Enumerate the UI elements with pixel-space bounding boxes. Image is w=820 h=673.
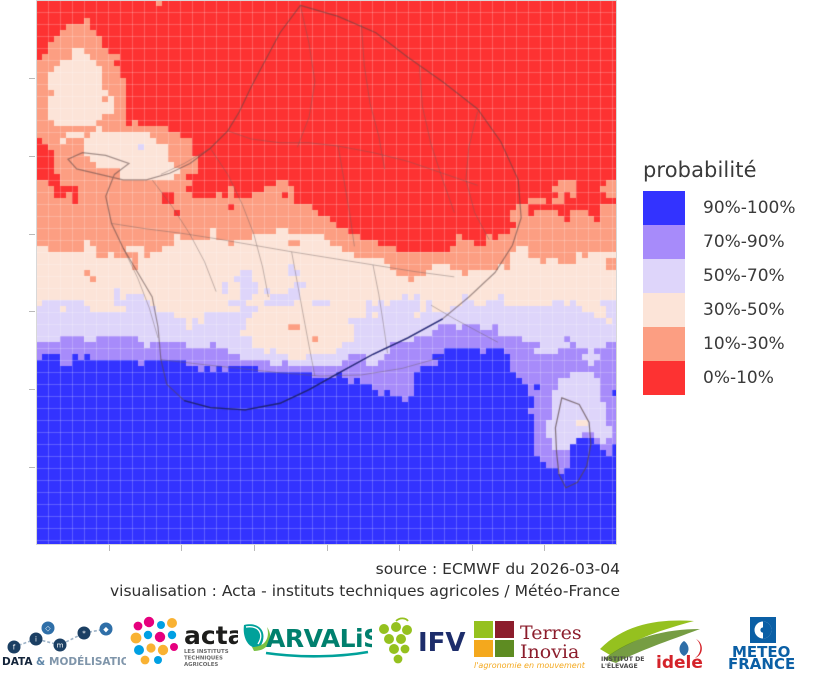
probability-map: [36, 0, 617, 545]
x-axis-tick: [544, 545, 545, 551]
credit-visualisation: visualisation : Acta - instituts techniq…: [0, 580, 620, 602]
legend-entries: 90%-100%70%-90%50%-70%30%-50%10%-30%0%-1…: [643, 191, 813, 395]
logo-idele: INSTITUT DE L'ÉLEVAGE idele: [598, 614, 726, 672]
partner-logo-bar: fi m* ◇◆ DATA & MODÉLISATION: [0, 612, 820, 673]
legend-label: 70%-90%: [703, 232, 785, 252]
svg-text:MODÉLISATION: MODÉLISATION: [49, 655, 126, 668]
svg-text:i: i: [35, 635, 37, 643]
svg-text:IFV: IFV: [418, 628, 466, 658]
legend-entry: 70%-90%: [643, 225, 813, 259]
y-axis-tick: [29, 467, 35, 468]
legend-entry: 50%-70%: [643, 259, 813, 293]
svg-text:l'agronomie en mouvement: l'agronomie en mouvement: [474, 661, 586, 670]
legend-label: 10%-30%: [703, 334, 785, 354]
svg-text:*: *: [82, 629, 86, 637]
logo-terres-inovia: Terres Inovia l'agronomie en mouvement: [470, 614, 598, 672]
y-axis-tick: [29, 156, 35, 157]
legend-title: probabilité: [643, 158, 813, 182]
svg-text:ARVALiS: ARVALiS: [266, 624, 372, 653]
svg-text:idele: idele: [656, 653, 703, 671]
logo-cnrm: cnrm: [814, 614, 820, 672]
svg-text:m: m: [57, 641, 64, 649]
svg-text:acta: acta: [184, 621, 238, 650]
svg-text:◆: ◆: [103, 625, 109, 633]
x-axis-tick: [472, 545, 473, 551]
legend-entry: 30%-50%: [643, 293, 813, 327]
svg-text:L'ÉLEVAGE: L'ÉLEVAGE: [601, 661, 638, 670]
legend-swatch: [643, 327, 685, 361]
svg-text:Inovia: Inovia: [520, 641, 579, 663]
y-axis-tick: [29, 78, 35, 79]
legend-label: 50%-70%: [703, 266, 785, 286]
legend-label: 90%-100%: [703, 198, 796, 218]
logo-meteo-france: METEO FRANCE: [726, 614, 814, 672]
y-axis-tick: [29, 389, 35, 390]
svg-text:◇: ◇: [45, 624, 51, 632]
svg-text:TECHNIQUES: TECHNIQUES: [184, 655, 223, 661]
logo-acta: acta LES INSTITUTS TECHNIQUES AGRICOLES: [128, 614, 240, 672]
svg-text:LES INSTITUTS: LES INSTITUTS: [184, 649, 229, 655]
legend-label: 0%-10%: [703, 368, 774, 388]
x-axis-tick: [327, 545, 328, 551]
logo-ifv: IFV: [374, 614, 470, 672]
probability-heatmap-canvas: [36, 0, 617, 545]
legend-label: 30%-50%: [703, 300, 785, 320]
y-axis-tick: [29, 311, 35, 312]
credits: source : ECMWF du 2026-03-04 visualisati…: [0, 558, 620, 602]
legend-swatch: [643, 225, 685, 259]
legend-swatch: [643, 191, 685, 225]
logo-arvalis: ARVALiS: [240, 614, 374, 672]
legend-swatch: [643, 293, 685, 327]
svg-text:&: &: [36, 656, 45, 668]
y-axis-tick: [29, 234, 35, 235]
x-axis-tick: [109, 545, 110, 551]
logo-data-et-modelisation: fi m* ◇◆ DATA & MODÉLISATION: [0, 614, 128, 672]
legend-swatch: [643, 361, 685, 395]
legend-entry: 10%-30%: [643, 327, 813, 361]
legend-entry: 0%-10%: [643, 361, 813, 395]
x-axis-tick: [254, 545, 255, 551]
x-axis-tick: [399, 545, 400, 551]
credit-source: source : ECMWF du 2026-03-04: [0, 558, 620, 580]
x-axis-tick: [181, 545, 182, 551]
svg-text:AGRICOLES: AGRICOLES: [184, 662, 218, 668]
svg-text:DATA: DATA: [2, 656, 33, 668]
legend: probabilité 90%-100%70%-90%50%-70%30%-50…: [643, 158, 813, 395]
svg-text:FRANCE: FRANCE: [728, 655, 795, 671]
legend-swatch: [643, 259, 685, 293]
legend-entry: 90%-100%: [643, 191, 813, 225]
svg-text:INSTITUT DE: INSTITUT DE: [601, 656, 644, 663]
